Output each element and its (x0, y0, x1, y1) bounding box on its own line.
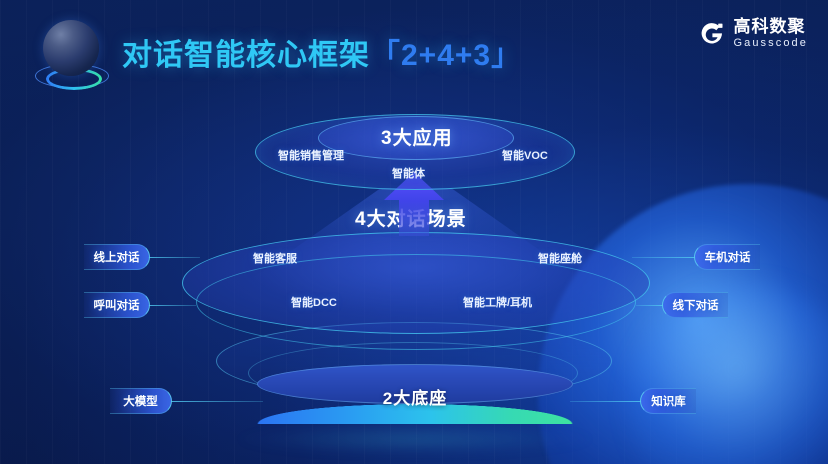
middle-layer-disc-inner (196, 254, 636, 350)
slide-header: 对话智能核心框架「2+4+3」 高科数聚 Gausscode (0, 0, 828, 100)
connector-left-0 (148, 257, 200, 258)
top-layer-item-0: 智能销售管理 (278, 147, 344, 163)
middle-layer-item-2: 智能DCC (291, 294, 337, 310)
top-layer-item-1: 智能VOC (502, 147, 548, 163)
middle-layer-item-3: 智能工牌/耳机 (463, 294, 532, 310)
pill-online-dialogue[interactable]: 线上对话 (84, 244, 150, 270)
brand-name-en: Gausscode (733, 38, 808, 49)
page-title-accent: 「2+4+3」 (370, 39, 522, 72)
page-title-main: 对话智能核心框架 (122, 39, 370, 72)
page-title: 对话智能核心框架「2+4+3」 (122, 30, 522, 74)
pill-label: 大模型 (123, 393, 158, 409)
connector-right-2 (570, 401, 642, 402)
pill-label: 呼叫对话 (94, 297, 140, 313)
orb-ball-icon (43, 20, 99, 76)
middle-layer-item-0: 智能客服 (253, 250, 297, 266)
top-layer-title: 3大应用 (381, 123, 453, 150)
pill-large-model[interactable]: 大模型 (110, 388, 172, 414)
pill-offline-dialogue[interactable]: 线下对话 (662, 292, 728, 318)
pill-label: 线上对话 (94, 249, 140, 265)
brand-name-cn: 高科数聚 (733, 18, 808, 35)
agent-label: 智能体 (392, 165, 425, 181)
brand-logo-text: 高科数聚 Gausscode (733, 18, 808, 49)
connector-left-2 (171, 401, 263, 402)
middle-layer-item-1: 智能座舱 (538, 250, 582, 266)
base-layer-title: 2大底座 (257, 384, 573, 409)
pill-invehicle-dialogue[interactable]: 车机对话 (694, 244, 760, 270)
framework-diagram: 2大底座 4大对话场景 智能客服 智能座舱 智能DCC 智能工牌/耳机 (0, 96, 828, 464)
sphere-orb-icon (26, 16, 112, 102)
pill-call-dialogue[interactable]: 呼叫对话 (84, 292, 150, 318)
slide-canvas: 对话智能核心框架「2+4+3」 高科数聚 Gausscode (0, 0, 828, 464)
gausscode-logo-icon (698, 20, 726, 48)
pill-label: 车机对话 (705, 249, 751, 265)
pill-label: 知识库 (651, 393, 686, 409)
pill-label: 线下对话 (673, 297, 719, 313)
connector-right-1 (636, 305, 664, 306)
pill-knowledge-base[interactable]: 知识库 (640, 388, 696, 414)
brand-logo: 高科数聚 Gausscode (698, 18, 808, 49)
connector-left-1 (148, 305, 196, 306)
connector-right-0 (632, 257, 696, 258)
base-layer-cylinder: 2大底座 (257, 364, 573, 436)
